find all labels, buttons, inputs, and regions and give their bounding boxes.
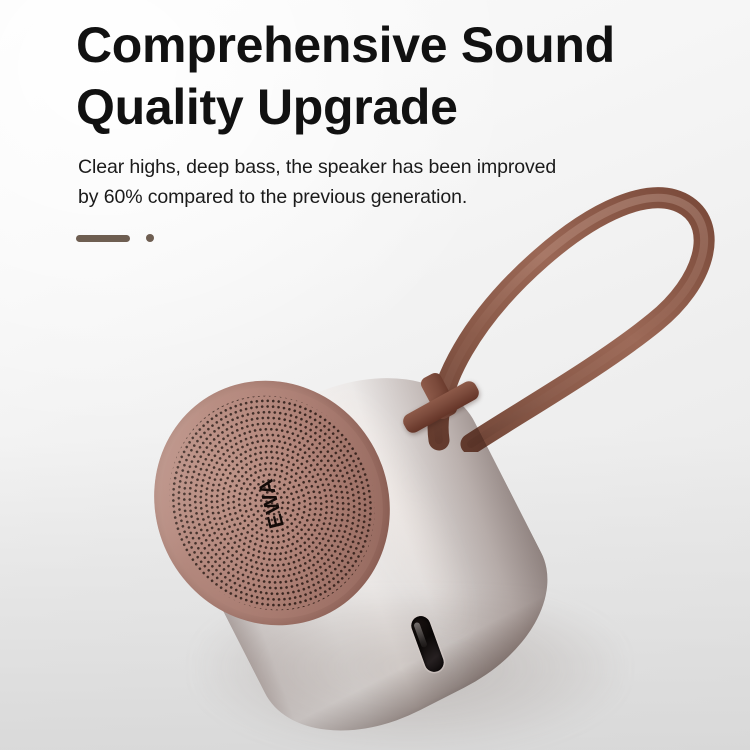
- slide-indicator[interactable]: [76, 234, 154, 242]
- page-title: Comprehensive Sound Quality Upgrade: [76, 14, 676, 138]
- slide-indicator-dot[interactable]: [146, 234, 154, 242]
- slide-indicator-active[interactable]: [76, 235, 130, 242]
- product-promo-image: Comprehensive Sound Quality Upgrade Clea…: [0, 0, 750, 750]
- bluetooth-speaker: EWA: [150, 365, 590, 750]
- page-subtitle: Clear highs, deep bass, the speaker has …: [78, 152, 678, 212]
